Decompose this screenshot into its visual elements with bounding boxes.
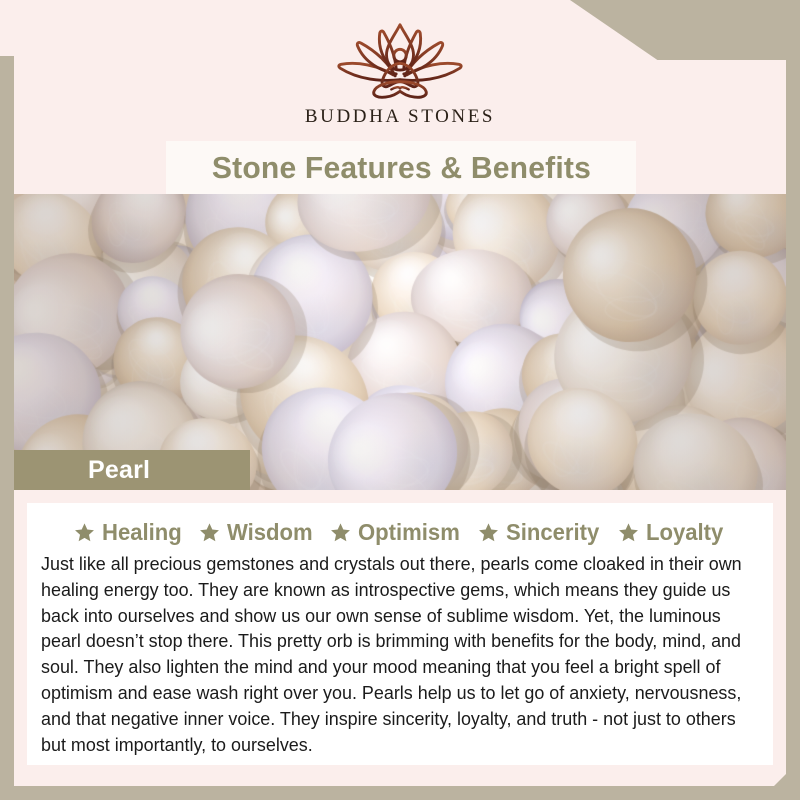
benefit-label: Wisdom	[227, 519, 313, 546]
star-icon	[199, 522, 220, 543]
poster-root: BUDDHA STONES Stone Features & Benefits …	[0, 0, 800, 800]
benefits-row: HealingWisdomOptimismSincerityLoyalty	[27, 519, 773, 546]
benefit-label: Loyalty	[646, 519, 723, 546]
title-banner: Stone Features & Benefits	[166, 141, 636, 194]
lotus-meditation-icon	[325, 18, 475, 100]
star-icon	[618, 522, 639, 543]
content-card: HealingWisdomOptimismSincerityLoyalty Ju…	[27, 503, 773, 765]
star-icon	[330, 522, 351, 543]
benefit-item: Sincerity	[478, 519, 603, 546]
page-title: Stone Features & Benefits	[211, 150, 590, 186]
brand-header: BUDDHA STONES	[0, 0, 800, 140]
brand-name: BUDDHA STONES	[305, 106, 495, 128]
benefit-item: Wisdom	[199, 519, 316, 546]
pearl-photo-canvas	[14, 194, 786, 490]
stone-photo	[14, 194, 786, 490]
photo-card-gap	[14, 490, 786, 504]
benefit-label: Sincerity	[506, 519, 599, 546]
star-icon	[74, 522, 95, 543]
benefit-item: Loyalty	[618, 519, 727, 546]
frame-bottom-strip	[0, 786, 800, 800]
stone-name-band: Pearl	[14, 450, 250, 490]
benefit-label: Optimism	[358, 519, 460, 546]
benefit-label: Healing	[102, 519, 182, 546]
stone-name: Pearl	[88, 456, 150, 485]
description-text: Just like all precious gemstones and cry…	[41, 551, 749, 757]
star-icon	[478, 522, 499, 543]
benefit-item: Optimism	[330, 519, 464, 546]
benefit-item: Healing	[74, 519, 185, 546]
